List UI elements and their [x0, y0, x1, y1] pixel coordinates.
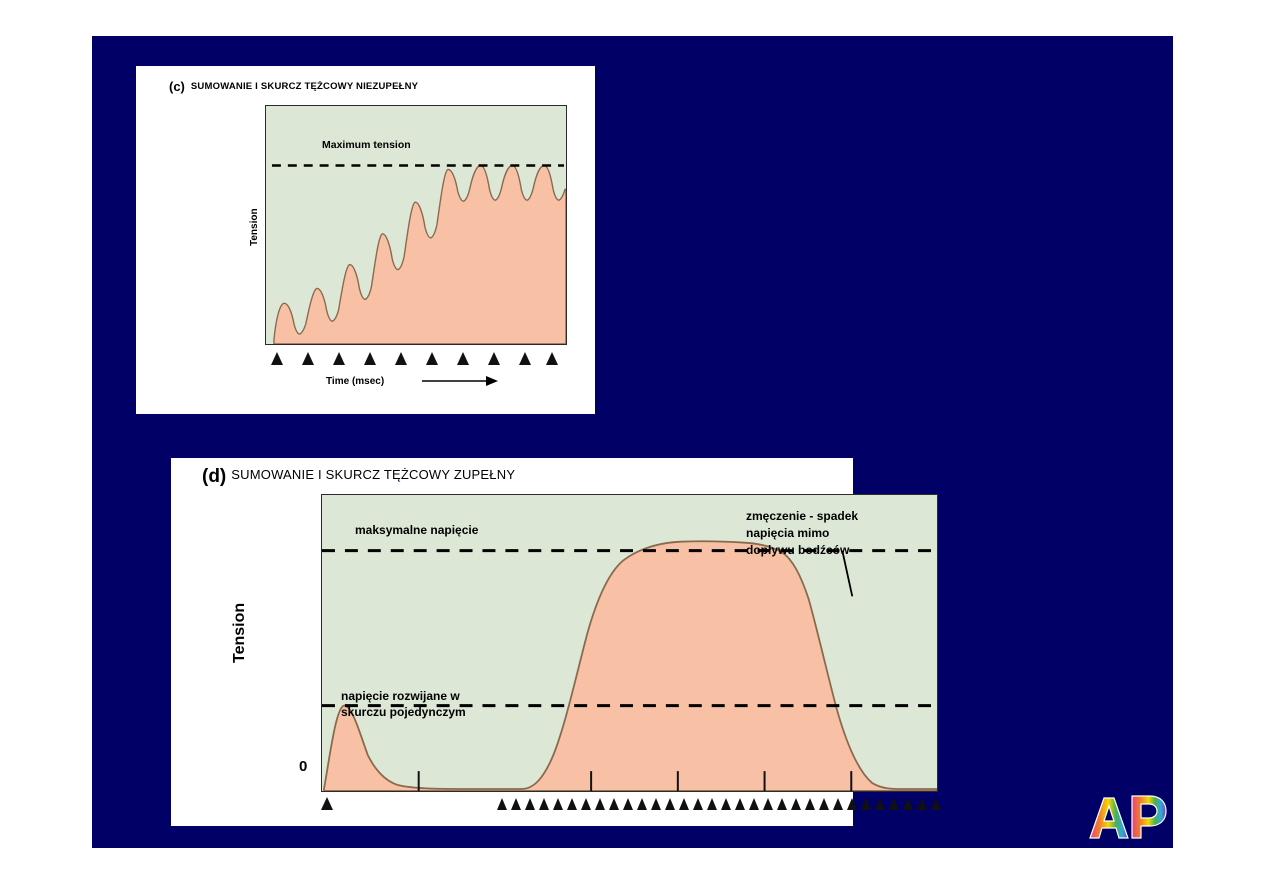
stimulus-marker — [581, 798, 591, 810]
panel-d-max-tension-label: maksymalne napięcie — [355, 523, 478, 538]
panel-c-heading: (c)SUMOWANIE I SKURCZ TĘŻCOWY NIEZUPEŁNY — [169, 78, 418, 96]
panel-d-plot: maksymalne napięcie zmęczenie - spadek n… — [321, 494, 938, 792]
stimulus-marker — [679, 798, 689, 810]
stimulus-marker — [567, 798, 577, 810]
panel-d-y-axis-zero: 0 — [299, 758, 307, 775]
panel-d-single-stimulus-row — [321, 796, 341, 810]
stimulus-marker — [553, 798, 563, 810]
stimulus-marker — [519, 352, 531, 365]
stimulus-marker — [302, 352, 314, 365]
panel-c-card: (c)SUMOWANIE I SKURCZ TĘŻCOWY NIEZUPEŁNY… — [136, 66, 595, 414]
panel-c-plot: Maximum tension — [265, 105, 567, 345]
panel-c-time-arrow-icon — [420, 374, 500, 388]
stimulus-marker — [457, 352, 469, 365]
panel-c-x-axis-label: Time (msec) — [326, 376, 384, 387]
stimulus-marker — [749, 798, 759, 810]
panel-d-card: (d)SUMOWANIE I SKURCZ TĘŻCOWY ZUPEŁNY Te… — [171, 458, 853, 826]
panel-d-single-twitch-label: napięcie rozwijane w skurczu pojedynczym — [341, 688, 466, 720]
presentation-slide: (c)SUMOWANIE I SKURCZ TĘŻCOWY NIEZUPEŁNY… — [92, 36, 1173, 848]
panel-c-y-axis-label: Tension — [249, 208, 260, 246]
stimulus-marker — [903, 798, 913, 810]
stimulus-marker — [833, 798, 843, 810]
panel-d-fatigue-label: zmęczenie - spadek napięcia mimo dopływu… — [746, 508, 858, 559]
panel-c-trace-svg — [266, 106, 566, 344]
panel-c-letter: (c) — [169, 79, 185, 94]
panel-d-y-axis-label: Tension — [231, 603, 249, 663]
stimulus-marker — [693, 798, 703, 810]
stimulus-marker — [637, 798, 647, 810]
ap-logo-letters — [1090, 796, 1166, 838]
panel-c-max-tension-label: Maximum tension — [322, 139, 411, 151]
stimulus-marker — [917, 798, 927, 810]
stimulus-marker — [395, 352, 407, 365]
stimulus-marker — [861, 798, 871, 810]
stimulus-marker — [707, 798, 717, 810]
stimulus-marker — [735, 798, 745, 810]
stimulus-marker — [665, 798, 675, 810]
panel-c-stimulus-row — [265, 351, 567, 365]
stimulus-marker — [889, 798, 899, 810]
stimulus-marker — [525, 798, 535, 810]
stimulus-marker — [511, 798, 521, 810]
stimulus-marker — [271, 352, 283, 365]
stimulus-marker — [539, 798, 549, 810]
stimulus-marker — [875, 798, 885, 810]
stimulus-marker — [763, 798, 773, 810]
stimulus-marker — [651, 798, 661, 810]
panel-d-tetanus-stimulus-row — [497, 796, 942, 810]
stimulus-marker — [595, 798, 605, 810]
panel-d-heading: (d)SUMOWANIE I SKURCZ TĘŻCOWY ZUPEŁNY — [202, 466, 515, 488]
stimulus-marker — [819, 798, 829, 810]
stimulus-marker — [805, 798, 815, 810]
stimulus-marker — [721, 798, 731, 810]
stimulus-marker — [426, 352, 438, 365]
panel-d-letter: (d) — [202, 466, 226, 487]
stimulus-marker — [623, 798, 633, 810]
panel-d-title: SUMOWANIE I SKURCZ TĘŻCOWY ZUPEŁNY — [231, 467, 515, 482]
stimulus-marker — [777, 798, 787, 810]
stimulus-marker — [546, 352, 558, 365]
stimulus-marker — [333, 352, 345, 365]
stimulus-marker — [321, 797, 333, 810]
stimulus-marker — [488, 352, 500, 365]
stimulus-marker — [497, 798, 507, 810]
stimulus-marker — [791, 798, 801, 810]
panel-c-trace-area — [274, 166, 566, 345]
stimulus-marker — [847, 798, 857, 810]
panel-c-title: SUMOWANIE I SKURCZ TĘŻCOWY NIEZUPEŁNY — [191, 81, 418, 92]
panel-d-trace-area — [324, 541, 937, 791]
stimulus-marker — [609, 798, 619, 810]
stimulus-marker — [364, 352, 376, 365]
stimulus-marker — [931, 798, 941, 810]
ap-logo — [1082, 788, 1170, 846]
